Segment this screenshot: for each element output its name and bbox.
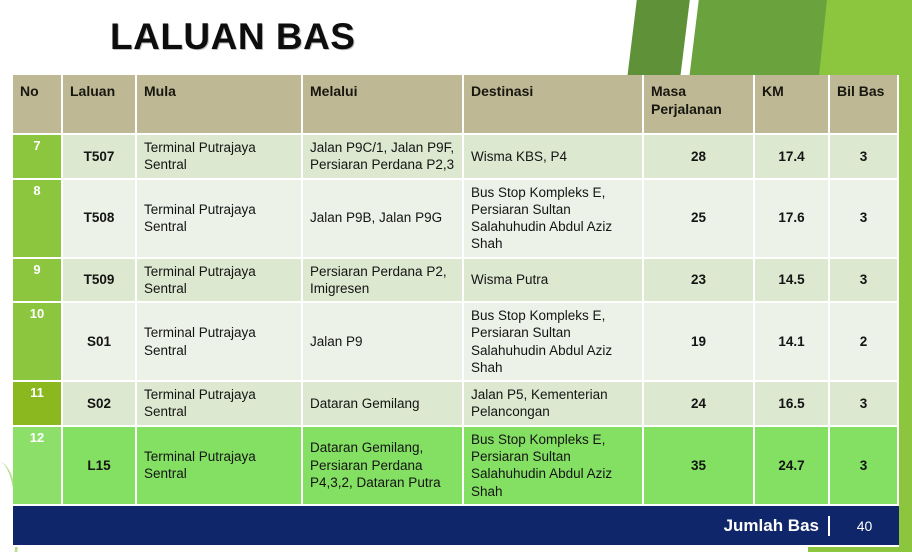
destination-cell: Wisma KBS, P4 [464, 135, 644, 180]
slide-canvas: LALUAN BAS No Laluan Mula Melalui Destin… [0, 0, 912, 552]
table-row-highlighted: 12 L15 Terminal Putrajaya Sentral Datara… [13, 427, 899, 506]
page-title: LALUAN BAS [110, 16, 355, 58]
duration-cell: 25 [644, 180, 755, 259]
origin-cell: Terminal Putrajaya Sentral [137, 180, 303, 259]
column-header-no: No [13, 75, 63, 135]
row-number-cell: 10 [13, 303, 63, 382]
route-code-cell: L15 [63, 427, 137, 506]
via-cell: Jalan P9 [303, 303, 464, 382]
table-row: 7 T507 Terminal Putrajaya Sentral Jalan … [13, 135, 899, 180]
origin-cell: Terminal Putrajaya Sentral [137, 135, 303, 180]
duration-cell: 35 [644, 427, 755, 506]
origin-cell: Terminal Putrajaya Sentral [137, 427, 303, 506]
total-bus-value: 40 [830, 518, 899, 534]
table-header-row: No Laluan Mula Melalui Destinasi Masa Pe… [13, 75, 899, 135]
column-header-destinasi: Destinasi [464, 75, 644, 135]
route-code-cell: S01 [63, 303, 137, 382]
bus-count-cell: 3 [830, 259, 899, 304]
table-header: No Laluan Mula Melalui Destinasi Masa Pe… [13, 75, 899, 135]
route-code-cell: T508 [63, 180, 137, 259]
destination-cell: Jalan P5, Kementerian Pelancongan [464, 382, 644, 427]
row-number-cell: 7 [13, 135, 63, 180]
via-cell: Jalan P9B, Jalan P9G [303, 180, 464, 259]
via-cell: Persiaran Perdana P2, Imigresen [303, 259, 464, 304]
table-row: 11 S02 Terminal Putrajaya Sentral Datara… [13, 382, 899, 427]
duration-cell: 28 [644, 135, 755, 180]
destination-cell: Bus Stop Kompleks E, Persiaran Sultan Sa… [464, 180, 644, 259]
bus-count-cell: 3 [830, 180, 899, 259]
distance-cell: 16.5 [755, 382, 830, 427]
column-header-bil-bas: Bil Bas [830, 75, 899, 135]
column-header-masa-perjalanan: Masa Perjalanan [644, 75, 755, 135]
table-row: 9 T509 Terminal Putrajaya Sentral Persia… [13, 259, 899, 304]
bus-count-cell: 3 [830, 427, 899, 506]
distance-cell: 17.4 [755, 135, 830, 180]
route-code-cell: T507 [63, 135, 137, 180]
bus-route-table: No Laluan Mula Melalui Destinasi Masa Pe… [13, 75, 899, 506]
bus-count-cell: 3 [830, 135, 899, 180]
origin-cell: Terminal Putrajaya Sentral [137, 259, 303, 304]
route-code-cell: T509 [63, 259, 137, 304]
bus-route-table-wrapper: No Laluan Mula Melalui Destinasi Masa Pe… [13, 75, 899, 506]
bus-count-cell: 3 [830, 382, 899, 427]
route-code-cell: S02 [63, 382, 137, 427]
destination-cell: Bus Stop Kompleks E, Persiaran Sultan Sa… [464, 303, 644, 382]
via-cell: Dataran Gemilang [303, 382, 464, 427]
total-bus-footer: Jumlah Bas 40 [13, 506, 899, 547]
via-cell: Jalan P9C/1, Jalan P9F, Persiaran Perdan… [303, 135, 464, 180]
table-row: 8 T508 Terminal Putrajaya Sentral Jalan … [13, 180, 899, 259]
distance-cell: 17.6 [755, 180, 830, 259]
row-number-cell: 12 [13, 427, 63, 506]
bus-count-cell: 2 [830, 303, 899, 382]
column-header-km: KM [755, 75, 830, 135]
right-edge-accent [899, 0, 912, 552]
destination-cell: Wisma Putra [464, 259, 644, 304]
total-bus-label: Jumlah Bas [13, 516, 830, 536]
duration-cell: 23 [644, 259, 755, 304]
table-row: 10 S01 Terminal Putrajaya Sentral Jalan … [13, 303, 899, 382]
table-body: 7 T507 Terminal Putrajaya Sentral Jalan … [13, 135, 899, 506]
column-header-mula: Mula [137, 75, 303, 135]
distance-cell: 24.7 [755, 427, 830, 506]
via-cell: Dataran Gemilang, Persiaran Perdana P4,3… [303, 427, 464, 506]
duration-cell: 19 [644, 303, 755, 382]
origin-cell: Terminal Putrajaya Sentral [137, 382, 303, 427]
destination-cell: Bus Stop Kompleks E, Persiaran Sultan Sa… [464, 427, 644, 506]
origin-cell: Terminal Putrajaya Sentral [137, 303, 303, 382]
row-number-cell: 8 [13, 180, 63, 259]
column-header-melalui: Melalui [303, 75, 464, 135]
row-number-cell: 11 [13, 382, 63, 427]
distance-cell: 14.5 [755, 259, 830, 304]
duration-cell: 24 [644, 382, 755, 427]
row-number-cell: 9 [13, 259, 63, 304]
column-header-laluan: Laluan [63, 75, 137, 135]
distance-cell: 14.1 [755, 303, 830, 382]
